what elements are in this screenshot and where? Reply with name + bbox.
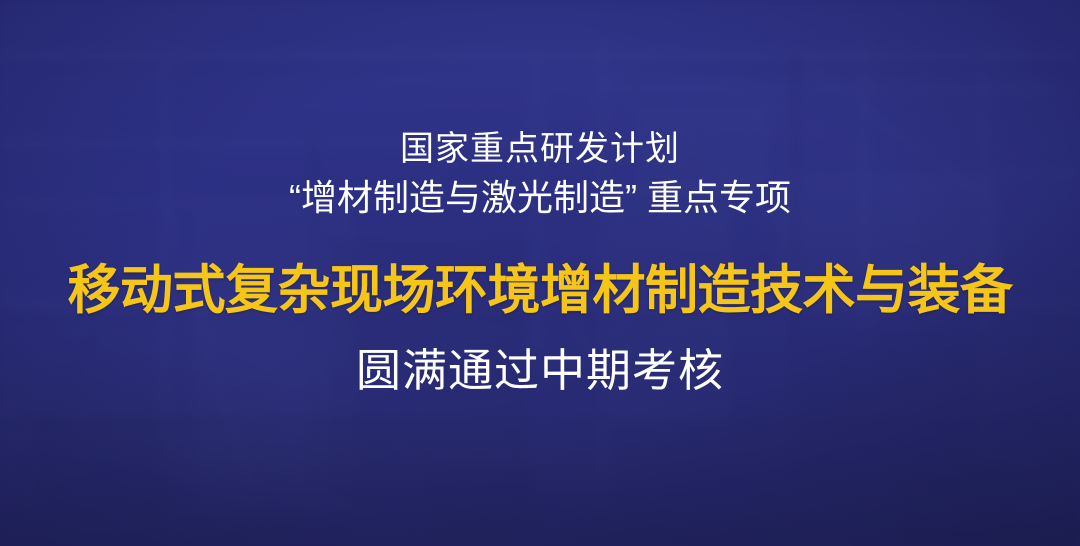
poster-text-block: 国家重点研发计划 “增材制造与激光制造” 重点专项 移动式复杂现场环境增材制造技… — [0, 0, 1080, 546]
program-name-line-2: “增材制造与激光制造” 重点专项 — [0, 178, 1080, 218]
program-name-line-1: 国家重点研发计划 — [0, 131, 1080, 168]
review-result-line: 圆满通过中期考核 — [0, 346, 1080, 396]
project-title: 移动式复杂现场环境增材制造技术与装备 — [0, 262, 1080, 320]
poster-banner: 国家重点研发计划 “增材制造与激光制造” 重点专项 移动式复杂现场环境增材制造技… — [0, 0, 1080, 546]
